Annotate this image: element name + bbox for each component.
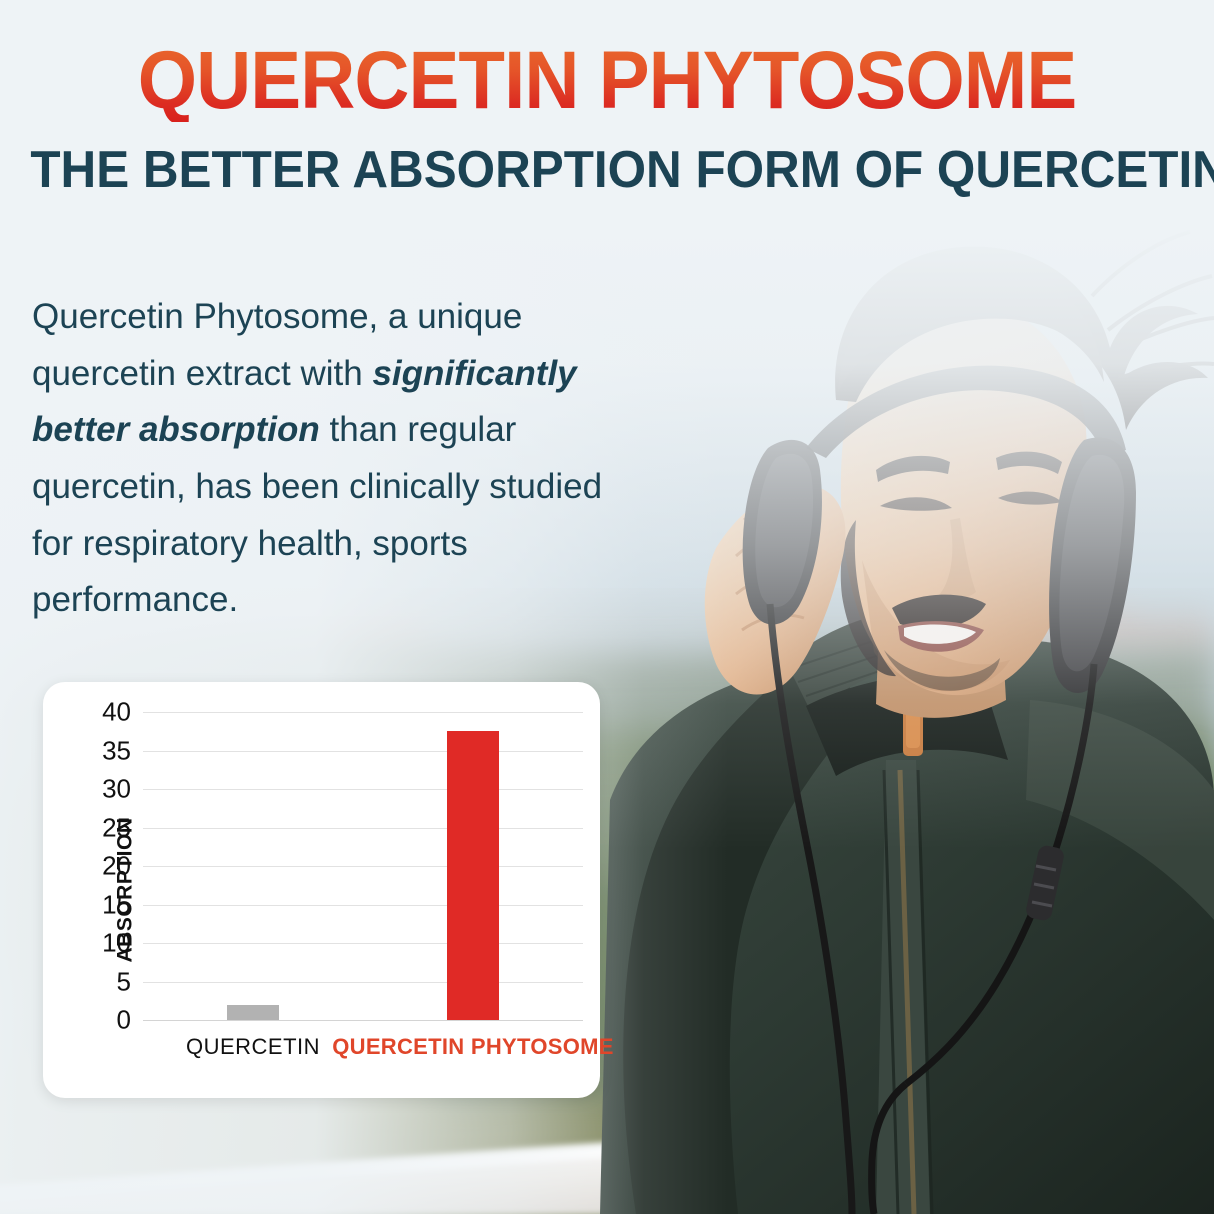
- page-title: QUERCETIN PHYTOSOME: [42, 40, 1171, 122]
- page-subtitle: THE BETTER ABSORPTION FORM OF QUERCETIN: [30, 144, 1183, 196]
- chart-gridline: 10: [143, 943, 583, 944]
- chart-y-tick-label: 5: [117, 966, 131, 997]
- chart-gridline: 15: [143, 905, 583, 906]
- chart-gridline: 25: [143, 828, 583, 829]
- chart-category-label: QUERCETIN PHYTOSOME: [332, 1034, 614, 1060]
- chart-y-tick-label: 15: [102, 889, 131, 920]
- infographic-stage: QUERCETIN PHYTOSOME THE BETTER ABSORPTIO…: [0, 0, 1214, 1214]
- chart-gridline: 0: [143, 1020, 583, 1021]
- chart-y-tick-label: 40: [102, 697, 131, 728]
- body-paragraph: Quercetin Phytosome, a unique quercetin …: [32, 289, 632, 629]
- chart-gridline: 40: [143, 712, 583, 713]
- chart-y-tick-label: 10: [102, 928, 131, 959]
- chart-bar: [447, 731, 499, 1020]
- chart-gridline: 20: [143, 866, 583, 867]
- chart-gridline: 35: [143, 751, 583, 752]
- absorption-chart-card: ABSORPTION 0510152025303540 QUERCETINQUE…: [43, 682, 600, 1098]
- chart-inner: ABSORPTION 0510152025303540 QUERCETINQUE…: [43, 682, 600, 1098]
- chart-y-tick-label: 35: [102, 735, 131, 766]
- chart-gridline: 30: [143, 789, 583, 790]
- chart-gridline: 5: [143, 982, 583, 983]
- chart-category-label: QUERCETIN: [186, 1034, 320, 1060]
- chart-y-tick-label: 0: [117, 1005, 131, 1036]
- chart-y-tick-label: 20: [102, 851, 131, 882]
- chart-bar: [227, 1005, 279, 1020]
- chart-y-tick-label: 30: [102, 774, 131, 805]
- header-block: QUERCETIN PHYTOSOME THE BETTER ABSORPTIO…: [0, 0, 1214, 196]
- chart-plot-area: 0510152025303540: [143, 712, 583, 1020]
- chart-y-tick-label: 25: [102, 812, 131, 843]
